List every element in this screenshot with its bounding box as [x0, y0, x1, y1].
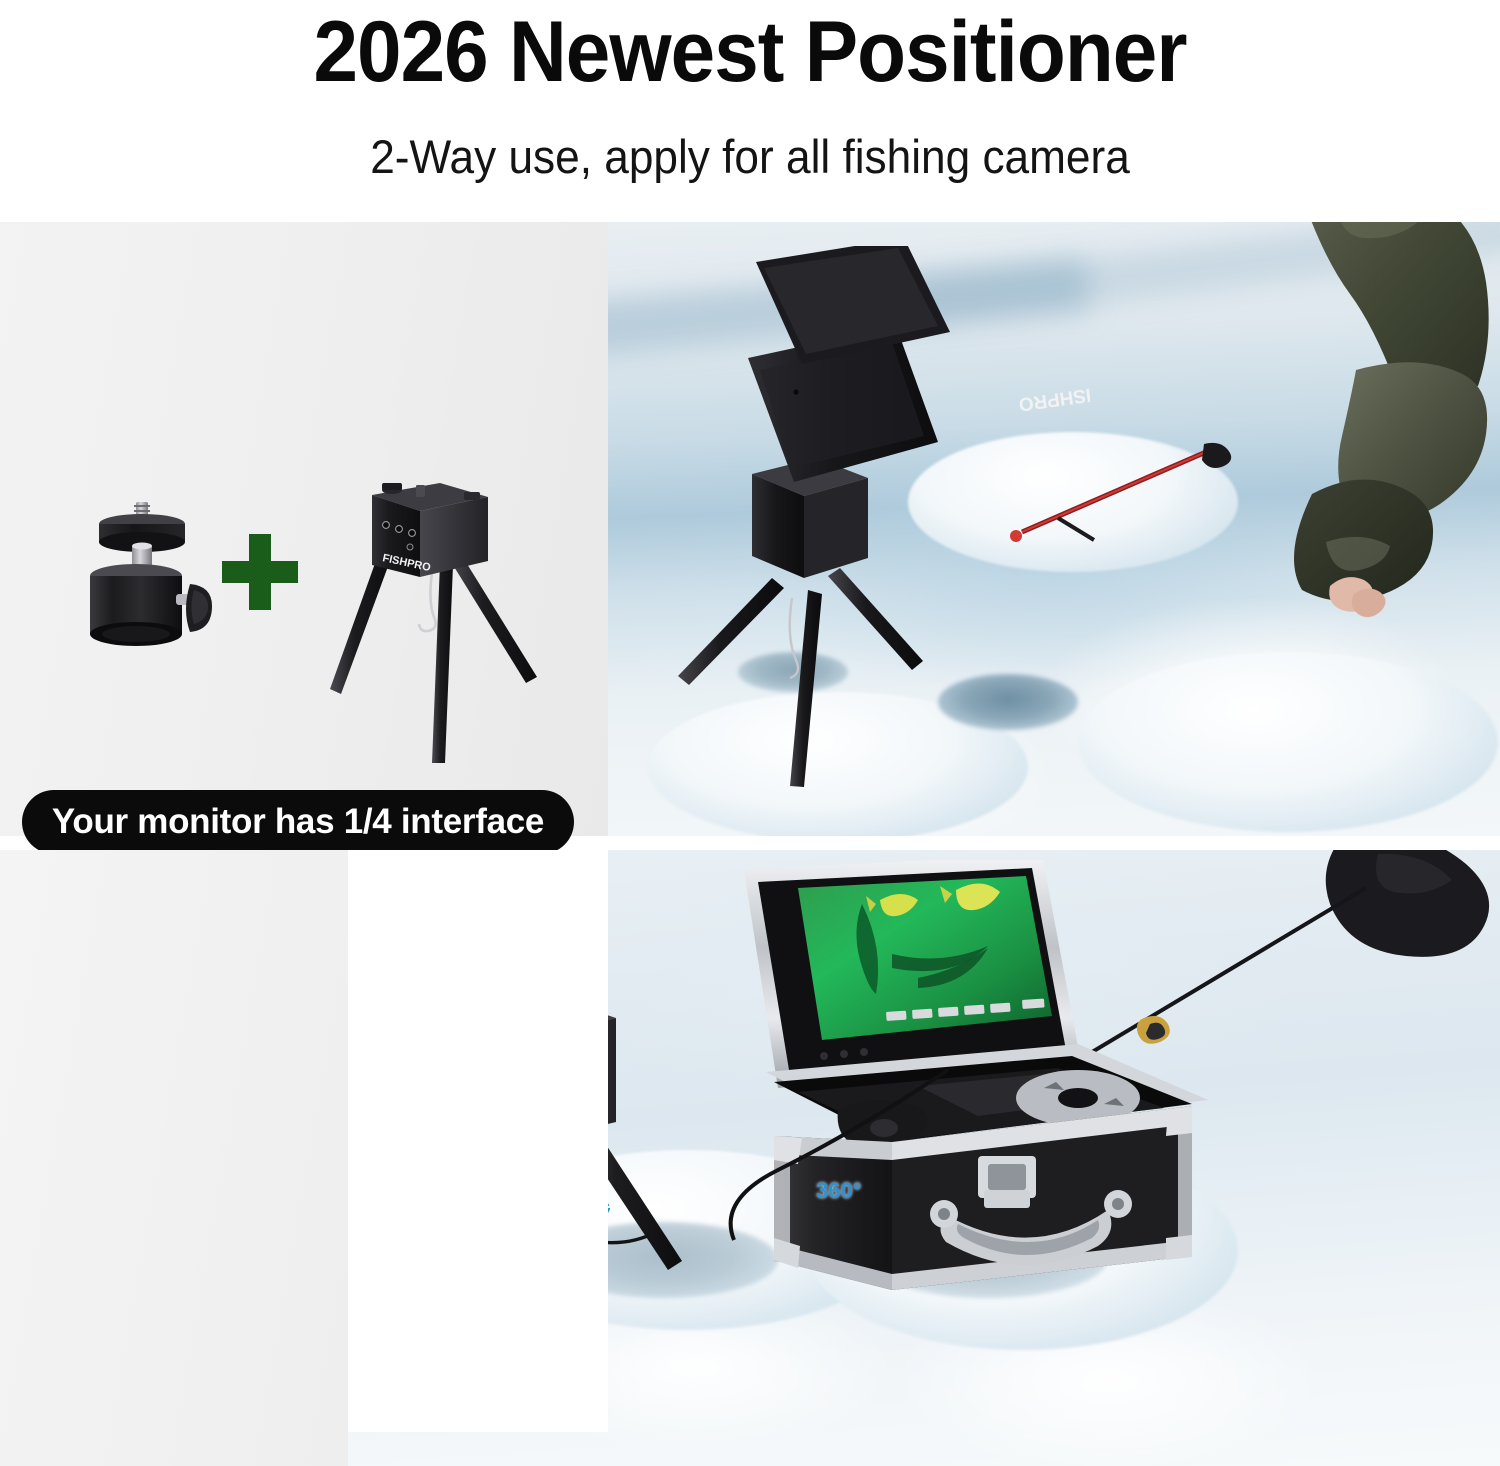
monitor-on-tripod: FISHPRO	[660, 246, 1090, 806]
product-infographic: 2026 Newest Positioner 2-Way use, apply …	[0, 0, 1500, 1466]
header: 2026 Newest Positioner 2-Way use, apply …	[0, 0, 1500, 214]
photo-case-and-tripod: FISHPRO	[348, 850, 1500, 1466]
badge-has-quarter-interface: Your monitor has 1/4 interface	[22, 790, 574, 854]
panel-with-quarter-interface: FISHPRO Your monitor has 1/4 interface m…	[0, 222, 608, 836]
page-subtitle: 2-Way use, apply for all fishing camera	[45, 128, 1455, 186]
ball-head-mount-image	[70, 494, 220, 654]
fishpro-tripod-image-top: FISHPRO	[320, 477, 570, 777]
plus-icon	[222, 534, 298, 610]
page-title: 2026 Newest Positioner	[53, 2, 1448, 102]
photo-ice-fishing-monitor: FISHPRO	[608, 222, 1500, 836]
brand-logo-text: FISHPRO	[1017, 382, 1090, 415]
rotation-360-label: 360°	[816, 1178, 862, 1204]
